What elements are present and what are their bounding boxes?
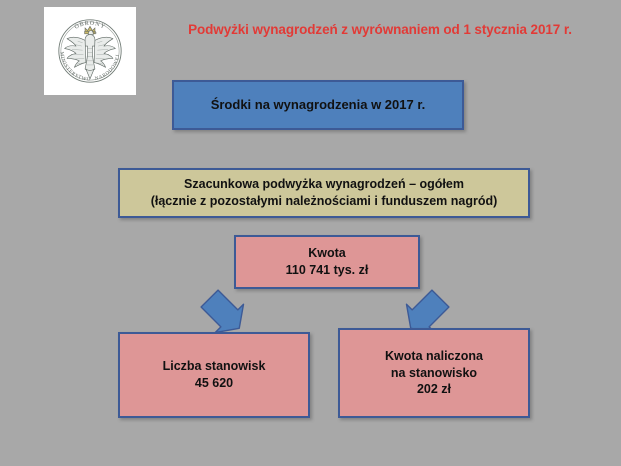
box-funds-2017: Środki na wynagrodzenia w 2017 r.: [172, 80, 464, 130]
arrow-down-left: [192, 286, 254, 338]
slide-canvas: OBRONY MINISTERSTWO NARODOWEJ: [0, 0, 621, 466]
box-per-position-label-1: Kwota naliczona: [385, 348, 483, 365]
box-estimate-line-2: (łącznie z pozostałymi należnościami i f…: [151, 193, 498, 210]
box-amount: Kwota 110 741 tys. zł: [234, 235, 420, 289]
ministry-emblem-logo: OBRONY MINISTERSTWO NARODOWEJ: [44, 7, 136, 95]
box-amount-value: 110 741 tys. zł: [286, 262, 369, 279]
arrow-down-left-icon: [192, 286, 254, 338]
box-positions-value: 45 620: [195, 375, 233, 392]
box-amount-per-position: Kwota naliczona na stanowisko 202 zł: [338, 328, 530, 418]
box-funds-line-1: Środki na wynagrodzenia w 2017 r.: [211, 96, 426, 114]
box-per-position-value: 202 zł: [417, 381, 451, 398]
box-number-of-positions: Liczba stanowisk 45 620: [118, 332, 310, 418]
box-estimated-raise-total: Szacunkowa podwyżka wynagrodzeń – ogółem…: [118, 168, 530, 218]
box-estimate-line-1: Szacunkowa podwyżka wynagrodzeń – ogółem: [184, 176, 464, 193]
box-positions-label: Liczba stanowisk: [163, 358, 266, 375]
box-amount-label: Kwota: [308, 245, 346, 262]
eagle-crest-icon: OBRONY MINISTERSTWO NARODOWEJ: [47, 10, 133, 92]
box-per-position-label-2: na stanowisko: [391, 365, 477, 382]
page-title: Podwyżki wynagrodzeń z wyrównaniem od 1 …: [150, 22, 610, 37]
